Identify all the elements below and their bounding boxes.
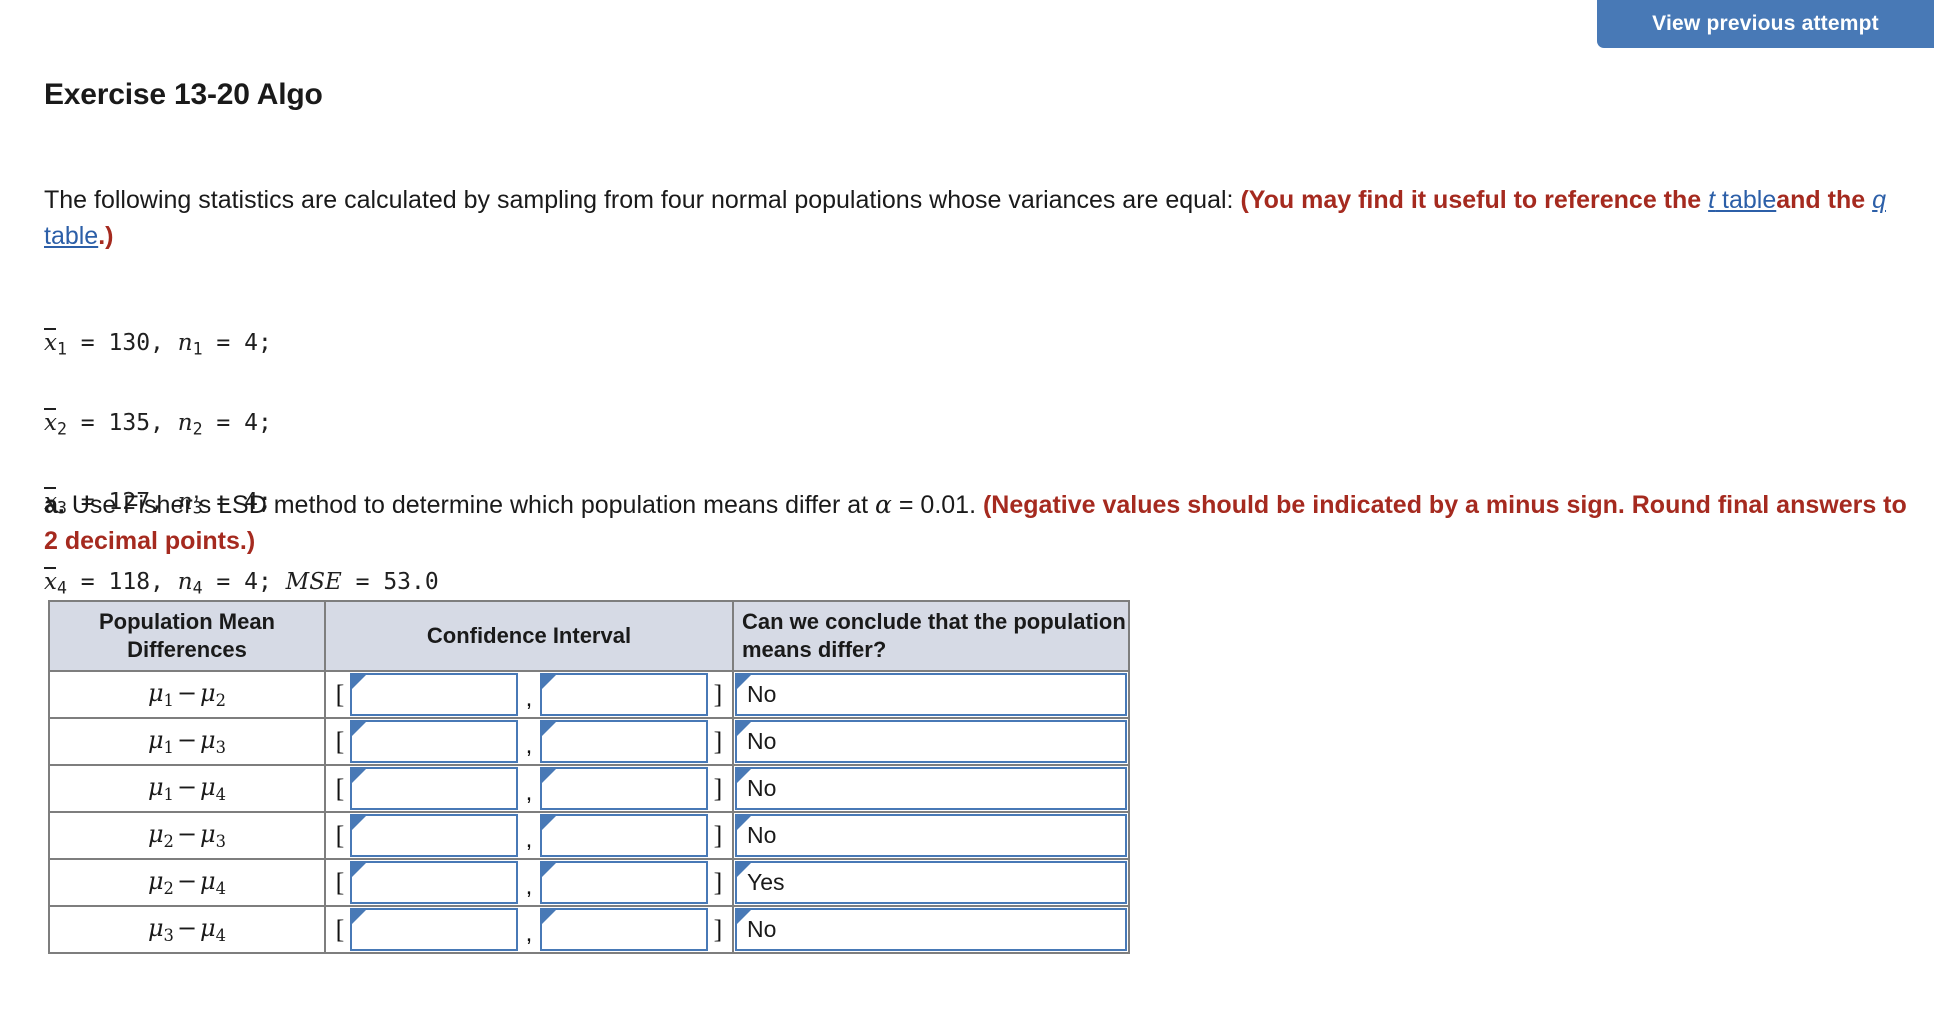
- sample-size-value: 4: [244, 410, 258, 436]
- intro-paragraph: The following statistics are calculated …: [44, 182, 1922, 254]
- mu-subscript: 1: [164, 691, 174, 710]
- view-previous-attempt-button[interactable]: View previous attempt: [1597, 0, 1934, 48]
- ci-upper-input[interactable]: [540, 908, 708, 951]
- t-table-link[interactable]: t table: [1708, 186, 1776, 214]
- intro-red-text-2: and the: [1776, 186, 1865, 214]
- bracket-close: ]: [708, 821, 728, 851]
- ci-lower-input[interactable]: [350, 720, 518, 763]
- table-header: Population Mean Differences Confidence I…: [49, 601, 1129, 671]
- mu-symbol: μ: [200, 867, 216, 895]
- sample-size-value: 4: [244, 569, 258, 595]
- ci-lower-input[interactable]: [350, 673, 518, 716]
- part-a-label: a.: [44, 491, 65, 519]
- q-table-link-italic: q: [1872, 186, 1886, 214]
- conclusion-wrapper: Yes: [734, 861, 1128, 904]
- mu-subscript: 1: [164, 785, 174, 804]
- sample-size-subscript: 4: [193, 579, 203, 598]
- mu-subscript: 2: [164, 879, 174, 898]
- cell-mean-difference: μ2−μ3: [49, 812, 325, 859]
- bracket-close: ]: [708, 727, 728, 757]
- ci-lower-input[interactable]: [350, 767, 518, 810]
- cell-confidence-interval: [ , ]: [325, 671, 733, 718]
- bracket-open: [: [330, 915, 350, 945]
- header-conclusion: Can we conclude that the population mean…: [733, 601, 1129, 671]
- ci-wrapper: [ , ]: [326, 814, 732, 857]
- ci-lower-input[interactable]: [350, 814, 518, 857]
- header-population-mean-differences: Population Mean Differences: [49, 601, 325, 671]
- intro-red-text-1: (You may find it useful to reference the: [1240, 186, 1701, 214]
- minus-sign: −: [174, 914, 200, 942]
- mse-value: 53.0: [383, 569, 438, 595]
- cell-mean-difference: μ1−μ3: [49, 718, 325, 765]
- sample-size-value: 4: [244, 330, 258, 356]
- cell-mean-difference: μ2−μ4: [49, 859, 325, 906]
- intro-red-text-3: .): [98, 222, 113, 250]
- conclusion-input[interactable]: No: [735, 767, 1127, 810]
- statistics-line: x2 = 135, n2 = 4;: [44, 405, 439, 448]
- exercise-page: View previous attempt Exercise 13-20 Alg…: [0, 0, 1934, 1018]
- cell-mean-difference: μ1−μ2: [49, 671, 325, 718]
- ci-comma: ,: [518, 865, 540, 901]
- sample-size-subscript: 1: [193, 340, 203, 359]
- sample-mean-subscript: 4: [57, 579, 67, 598]
- mu-symbol: μ: [200, 773, 216, 801]
- mu-symbol: μ: [148, 914, 164, 942]
- bracket-open: [: [330, 727, 350, 757]
- bracket-open: [: [330, 868, 350, 898]
- page-title: Exercise 13-20 Algo: [44, 78, 323, 112]
- conclusion-input[interactable]: No: [735, 673, 1127, 716]
- mu-symbol: μ: [148, 820, 164, 848]
- conclusion-input[interactable]: Yes: [735, 861, 1127, 904]
- sample-mean-symbol: x: [44, 410, 57, 436]
- mu-symbol: μ: [148, 773, 164, 801]
- cell-confidence-interval: [ , ]: [325, 859, 733, 906]
- table-row: μ2−μ4 [ , ] Yes: [49, 859, 1129, 906]
- ci-wrapper: [ , ]: [326, 673, 732, 716]
- cell-conclusion: No: [733, 671, 1129, 718]
- ci-wrapper: [ , ]: [326, 908, 732, 951]
- mu-symbol: μ: [200, 679, 216, 707]
- mu-subscript: 2: [164, 832, 174, 851]
- ci-upper-input[interactable]: [540, 814, 708, 857]
- bracket-open: [: [330, 680, 350, 710]
- sample-mean-value: 118: [109, 569, 151, 595]
- sample-mean-symbol: x: [44, 569, 57, 595]
- ci-wrapper: [ , ]: [326, 861, 732, 904]
- conclusion-wrapper: No: [734, 767, 1128, 810]
- conclusion-wrapper: No: [734, 673, 1128, 716]
- ci-lower-input[interactable]: [350, 861, 518, 904]
- ci-comma: ,: [518, 818, 540, 854]
- bracket-open: [: [330, 821, 350, 851]
- conclusion-input[interactable]: No: [735, 814, 1127, 857]
- mu-subscript: 4: [216, 785, 226, 804]
- sample-mean-subscript: 1: [57, 340, 67, 359]
- mu-symbol: μ: [148, 867, 164, 895]
- mu-subscript: 4: [216, 926, 226, 945]
- cell-confidence-interval: [ , ]: [325, 906, 733, 953]
- table-row: μ1−μ4 [ , ] No: [49, 765, 1129, 812]
- sample-size-symbol: n: [178, 330, 193, 356]
- mu-subscript: 2: [216, 691, 226, 710]
- table-row: μ1−μ3 [ , ] No: [49, 718, 1129, 765]
- t-table-link-rest: table: [1715, 186, 1776, 214]
- ci-upper-input[interactable]: [540, 767, 708, 810]
- minus-sign: −: [174, 679, 200, 707]
- mu-subscript: 1: [164, 738, 174, 757]
- conclusion-wrapper: No: [734, 814, 1128, 857]
- cell-conclusion: No: [733, 812, 1129, 859]
- minus-sign: −: [174, 820, 200, 848]
- intro-black-text: The following statistics are calculated …: [44, 186, 1234, 214]
- minus-sign: −: [174, 773, 200, 801]
- conclusion-wrapper: No: [734, 908, 1128, 951]
- conclusion-wrapper: No: [734, 720, 1128, 763]
- cell-conclusion: No: [733, 906, 1129, 953]
- cell-conclusion: No: [733, 765, 1129, 812]
- alpha-symbol: α: [875, 490, 892, 519]
- ci-comma: ,: [518, 677, 540, 713]
- minus-sign: −: [174, 867, 200, 895]
- minus-sign: −: [174, 726, 200, 754]
- bracket-close: ]: [708, 915, 728, 945]
- sample-mean-subscript: 2: [57, 419, 67, 438]
- cell-confidence-interval: [ , ]: [325, 812, 733, 859]
- sample-size-symbol: n: [178, 569, 193, 595]
- mu-subscript: 3: [216, 832, 226, 851]
- cell-conclusion: No: [733, 718, 1129, 765]
- bracket-open: [: [330, 774, 350, 804]
- part-a-text: Use Fisher’s LSD method to determine whi…: [72, 491, 868, 519]
- bracket-close: ]: [708, 868, 728, 898]
- ci-wrapper: [ , ]: [326, 767, 732, 810]
- bracket-close: ]: [708, 774, 728, 804]
- mu-symbol: μ: [200, 726, 216, 754]
- sample-size-symbol: n: [178, 410, 193, 436]
- sample-mean-value: 130: [109, 330, 151, 356]
- table-body: μ1−μ2 [ , ] No μ1−μ3: [49, 671, 1129, 953]
- cell-mean-difference: μ1−μ4: [49, 765, 325, 812]
- alpha-value: = 0.01.: [899, 491, 976, 519]
- ci-comma: ,: [518, 771, 540, 807]
- q-table-link-rest: table: [44, 222, 98, 250]
- mu-subscript: 4: [216, 879, 226, 898]
- sample-mean-symbol: x: [44, 330, 57, 356]
- cell-conclusion: Yes: [733, 859, 1129, 906]
- table-row: μ2−μ3 [ , ] No: [49, 812, 1129, 859]
- statistics-line: x1 = 130, n1 = 4;: [44, 325, 439, 368]
- ci-wrapper: [ , ]: [326, 720, 732, 763]
- sample-mean-value: 135: [109, 410, 151, 436]
- mu-symbol: μ: [148, 726, 164, 754]
- conclusion-input[interactable]: No: [735, 908, 1127, 951]
- ci-upper-input[interactable]: [540, 720, 708, 763]
- mse-label: MSE: [286, 569, 342, 595]
- header-confidence-interval: Confidence Interval: [325, 601, 733, 671]
- mu-subscript: 3: [216, 738, 226, 757]
- mu-symbol: μ: [200, 914, 216, 942]
- mu-symbol: μ: [148, 679, 164, 707]
- bracket-close: ]: [708, 680, 728, 710]
- lsd-results-table: Population Mean Differences Confidence I…: [48, 600, 1130, 954]
- ci-comma: ,: [518, 724, 540, 760]
- ci-comma: ,: [518, 912, 540, 948]
- ci-lower-input[interactable]: [350, 908, 518, 951]
- ci-upper-input[interactable]: [540, 861, 708, 904]
- mu-symbol: μ: [200, 820, 216, 848]
- cell-confidence-interval: [ , ]: [325, 765, 733, 812]
- table-row: μ1−μ2 [ , ] No: [49, 671, 1129, 718]
- cell-mean-difference: μ3−μ4: [49, 906, 325, 953]
- ci-upper-input[interactable]: [540, 673, 708, 716]
- table-row: μ3−μ4 [ , ] No: [49, 906, 1129, 953]
- table-header-row: Population Mean Differences Confidence I…: [49, 601, 1129, 671]
- conclusion-input[interactable]: No: [735, 720, 1127, 763]
- mu-subscript: 3: [164, 926, 174, 945]
- cell-confidence-interval: [ , ]: [325, 718, 733, 765]
- sample-size-subscript: 2: [193, 419, 203, 438]
- part-a-prompt: a. Use Fisher’s LSD method to determine …: [44, 487, 1922, 559]
